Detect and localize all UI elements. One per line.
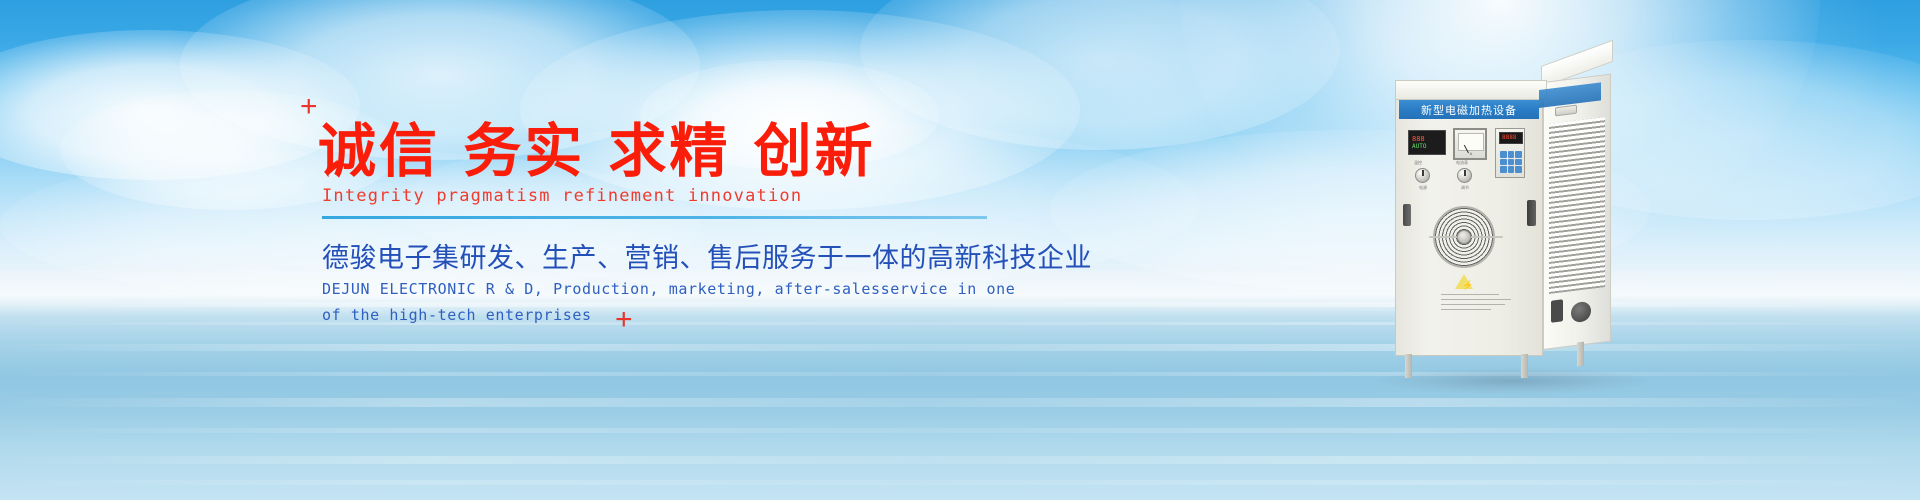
banner-headline-cn: 诚信 务实 求精 创新 (318, 120, 876, 183)
keypad-screen: 8888 (1499, 132, 1523, 144)
gauge-face (1458, 133, 1484, 151)
plus-decoration-icon: + (300, 92, 318, 122)
panel-left-label: 温控 (1403, 160, 1433, 166)
product-image-heating-equipment: 新型电磁加热设备 888 AUTO A 8888 (1395, 78, 1625, 378)
machine-leg (1521, 354, 1528, 378)
banner-headline-en: Integrity pragmatism refinement innovati… (322, 186, 802, 206)
machine-knob-power (1415, 168, 1430, 183)
banner-tagline-cn: 德骏电子集研发、生产、营销、售后服务于一体的高新科技企业 (322, 236, 1092, 275)
machine-door-latch-left (1403, 204, 1411, 226)
machine-knob-adjust (1457, 168, 1472, 183)
keypad-key (1500, 166, 1507, 173)
machine-side-port (1551, 299, 1563, 322)
keypad-key (1515, 159, 1522, 166)
keypad-key (1500, 151, 1507, 158)
water-streak (0, 372, 1920, 376)
keypad-key (1515, 166, 1522, 173)
water-streak (0, 344, 1920, 351)
machine-top-panel (1395, 80, 1547, 100)
keypad-key (1515, 151, 1522, 158)
spec-text-line (1441, 294, 1499, 295)
knob-right-label: 调节 (1450, 185, 1480, 191)
machine-digital-display: 888 AUTO (1408, 130, 1446, 155)
display-primary-value: 888 (1412, 135, 1445, 143)
keypad-key (1508, 166, 1515, 173)
machine-brand-label: 新型电磁加热设备 (1399, 100, 1539, 119)
banner-tagline-en: DEJUN ELECTRONIC R & D, Production, mark… (322, 276, 1015, 329)
display-secondary-value: AUTO (1412, 143, 1445, 150)
water-streak (0, 456, 1920, 464)
panel-right-label: 电流表 (1447, 160, 1477, 166)
keypad-display-value: 8888 (1500, 133, 1522, 143)
machine-spec-text-block (1441, 294, 1515, 314)
fan-hub (1457, 230, 1471, 244)
water-streak (0, 428, 1920, 433)
spec-text-line (1441, 299, 1511, 300)
machine-analog-gauge: A (1453, 128, 1487, 160)
gauge-label: A (1458, 151, 1484, 156)
spec-text-line (1441, 309, 1491, 310)
machine-vent-grille (1549, 117, 1605, 294)
water-streak (0, 480, 1920, 485)
lightning-bolt-icon: ⚡ (1462, 281, 1473, 290)
water-streak (0, 398, 1920, 407)
machine-leg (1405, 354, 1412, 378)
knob-left-label: 电源 (1408, 185, 1438, 191)
keypad-key (1500, 159, 1507, 166)
keypad-buttons (1500, 151, 1522, 173)
keypad-key (1508, 159, 1515, 166)
machine-fan-grille (1433, 206, 1495, 268)
keypad-key (1508, 151, 1515, 158)
divider-line (322, 216, 987, 219)
machine-door-latch-right (1527, 200, 1536, 226)
machine-keypad-module: 8888 (1495, 128, 1525, 178)
spec-text-line (1441, 304, 1505, 305)
machine-leg (1577, 342, 1584, 367)
cloud-shape (860, 0, 1340, 150)
promotional-banner: + + 诚信 务实 求精 创新 Integrity pragmatism ref… (0, 0, 1920, 500)
